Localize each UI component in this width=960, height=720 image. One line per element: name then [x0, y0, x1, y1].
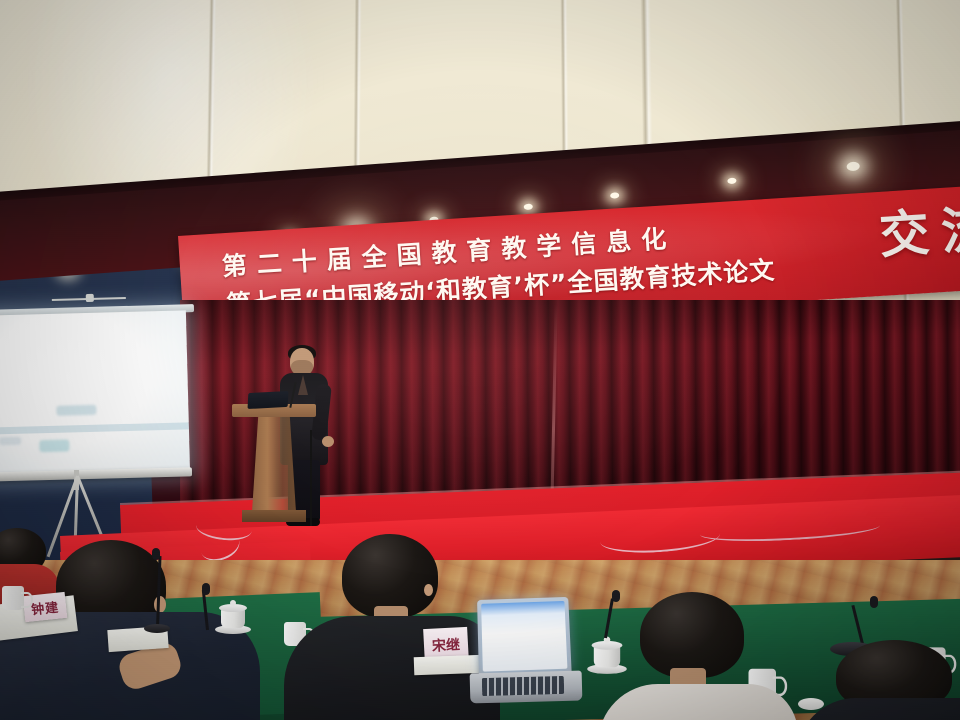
attendee-right	[826, 640, 960, 720]
ceiling-spotlight	[524, 203, 533, 210]
lidded-teacup	[218, 600, 248, 630]
ceiling-spotlight	[610, 192, 619, 199]
projection-screen	[0, 310, 190, 477]
microphone-head	[612, 590, 620, 602]
attendee-mug	[2, 586, 30, 612]
microphone-head	[152, 548, 160, 560]
attendee-right-center	[624, 592, 784, 720]
slide-element	[39, 439, 69, 452]
attendee-laptop[interactable]	[470, 598, 582, 710]
banner-headline-text: 交流	[877, 188, 960, 268]
laptop-lid	[477, 597, 572, 678]
lidded-teacup	[591, 637, 624, 670]
floor-microphone-stand	[310, 430, 312, 526]
attendee-clothing	[598, 684, 798, 720]
mug-handle	[21, 592, 33, 608]
podium	[238, 404, 310, 522]
attendee-hair	[640, 592, 744, 678]
microphone-head	[870, 596, 878, 608]
ceiling-spotlight	[846, 161, 860, 171]
slide-element	[56, 405, 96, 416]
microphone-head	[202, 583, 210, 595]
laptop-keyboard[interactable]	[482, 676, 564, 696]
presenter-hand	[322, 436, 334, 447]
conference-hall-photo: 第二十届全国教育教学信息化 第七届“中国移动‘和教育’杯”全国教育技术论文 交流	[0, 0, 960, 720]
microphone-base	[144, 624, 170, 633]
teacup-lid-on-table	[798, 698, 824, 710]
projected-slide	[0, 310, 190, 477]
attendee-ear	[424, 584, 433, 596]
podium-column	[252, 417, 296, 512]
slide-band	[0, 422, 189, 434]
teacup-knob	[230, 600, 236, 606]
ceiling-spotlight	[727, 178, 736, 185]
laptop-screen[interactable]	[481, 601, 567, 672]
slide-element	[0, 437, 21, 446]
podium-laptop	[247, 391, 288, 409]
